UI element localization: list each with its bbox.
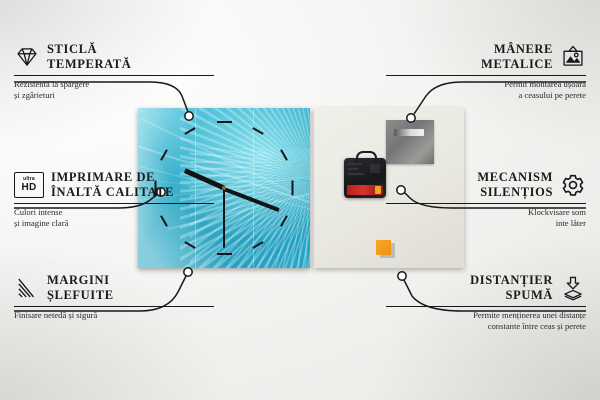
callout-subtitle-line-1: Permite menținerea unei distanțe bbox=[386, 310, 586, 321]
callout-header: ultra HD IMPRIMARE DE ÎNALTĂ CALITATE bbox=[14, 170, 214, 200]
diamond-icon bbox=[14, 44, 40, 70]
mechanism-hanging-loop bbox=[356, 151, 377, 163]
callout-rule bbox=[386, 75, 586, 77]
callout-title-line-1: STICLĂ bbox=[47, 42, 131, 57]
clock-tick bbox=[217, 253, 232, 255]
mechanism-detail bbox=[370, 164, 380, 173]
callout-subtitle-line-2: constante între ceas și perete bbox=[386, 321, 586, 332]
callout-title-line-2: SPUMĂ bbox=[470, 288, 553, 303]
mechanism-detail bbox=[348, 168, 358, 170]
callout-header: DISTANȚIER SPUMĂ bbox=[386, 273, 586, 303]
callout-title-line-1: MARGINI bbox=[47, 273, 114, 288]
clock-tick bbox=[292, 181, 294, 196]
callout-header: MÂNERE METALICE bbox=[386, 42, 586, 72]
callout-subtitle-line-1: Permit montarea ușoară bbox=[386, 79, 586, 90]
callout-subtitle-line-1: Finisare netedă și sigură bbox=[14, 310, 214, 321]
callout-header: MECANISM SILENȚIOS bbox=[386, 170, 586, 200]
callout-rule bbox=[14, 75, 214, 77]
callout-title-line-1: MECANISM bbox=[477, 170, 553, 185]
callout-subtitle-line-1: Culori intense bbox=[14, 207, 214, 218]
callout-title: MECANISM SILENȚIOS bbox=[477, 170, 553, 200]
callout-subtitle-line-2: și imagine clară bbox=[14, 218, 214, 229]
callout-title-line-2: TEMPERATĂ bbox=[47, 57, 131, 72]
foam-spacer bbox=[376, 240, 391, 255]
ultra-hd-icon-main-text: HD bbox=[21, 183, 36, 193]
metal-hanger-plate bbox=[386, 120, 434, 164]
callout-subtitle: Culori intense și imagine clară bbox=[14, 207, 214, 230]
callout-title: MÂNERE METALICE bbox=[481, 42, 553, 72]
callout-header: STICLĂ TEMPERATĂ bbox=[14, 42, 214, 72]
battery-terminal bbox=[375, 186, 381, 194]
callout-subtitle: Rezistentă la spargere și zgârieturi bbox=[14, 79, 214, 102]
callout-title: STICLĂ TEMPERATĂ bbox=[47, 42, 131, 72]
callout-header: MARGINI ȘLEFUITE bbox=[14, 273, 214, 303]
callout-title-line-2: METALICE bbox=[481, 57, 553, 72]
callout-title-line-1: IMPRIMARE DE bbox=[51, 170, 174, 185]
gear-icon bbox=[560, 172, 586, 198]
ultra-hd-icon-small-text: ultra bbox=[23, 177, 35, 182]
callout-sticla-temperata: STICLĂ TEMPERATĂ Rezistentă la spargere … bbox=[14, 42, 214, 102]
callout-manere-metalice: MÂNERE METALICE Permit montarea ușoară a… bbox=[386, 42, 586, 102]
callout-subtitle-line-2: inte låter bbox=[386, 218, 586, 229]
callout-margini-slefuite: MARGINI ȘLEFUITE Finisare netedă și sigu… bbox=[14, 273, 214, 321]
callout-title: IMPRIMARE DE ÎNALTĂ CALITATE bbox=[51, 170, 174, 200]
quartz-clock-mechanism bbox=[344, 158, 386, 198]
callout-title: DISTANȚIER SPUMĂ bbox=[470, 273, 553, 303]
clock-pivot bbox=[222, 186, 226, 190]
callout-subtitle: Klockvisare som inte låter bbox=[386, 207, 586, 230]
clock-tick bbox=[217, 121, 232, 123]
callout-subtitle-line-2: și zgârieturi bbox=[14, 90, 214, 101]
callout-title-line-2: ȘLEFUITE bbox=[47, 288, 114, 303]
picture-frame-hanger-icon bbox=[560, 44, 586, 70]
hanger-slot bbox=[394, 129, 424, 136]
callout-mecanism-silentios: MECANISM SILENȚIOS Klockvisare som inte … bbox=[386, 170, 586, 230]
aa-battery bbox=[347, 185, 383, 195]
callout-subtitle-line-1: Rezistentă la spargere bbox=[14, 79, 214, 90]
infographic-canvas: STICLĂ TEMPERATĂ Rezistentă la spargere … bbox=[0, 0, 600, 400]
callout-subtitle: Permit montarea ușoară a ceasului pe per… bbox=[386, 79, 586, 102]
clock-second-hand bbox=[223, 188, 225, 248]
callout-subtitle: Finisare netedă și sigură bbox=[14, 310, 214, 321]
callout-rule bbox=[14, 203, 214, 205]
ultra-hd-icon: ultra HD bbox=[14, 172, 44, 198]
callout-rule bbox=[386, 203, 586, 205]
glass-seam bbox=[253, 108, 254, 268]
callout-title-line-1: MÂNERE bbox=[481, 42, 553, 57]
callout-subtitle-line-1: Klockvisare som bbox=[386, 207, 586, 218]
mechanism-detail bbox=[348, 173, 364, 175]
callout-rule bbox=[386, 306, 586, 308]
callout-title-line-2: ÎNALTĂ CALITATE bbox=[51, 185, 174, 200]
callout-title: MARGINI ȘLEFUITE bbox=[47, 273, 114, 303]
callout-subtitle: Permite menținerea unei distanțe constan… bbox=[386, 310, 586, 333]
polished-edges-icon bbox=[14, 275, 40, 301]
callout-rule bbox=[14, 306, 214, 308]
callout-title-line-2: SILENȚIOS bbox=[477, 185, 553, 200]
mechanism-detail bbox=[348, 163, 362, 165]
callout-distantier-spuma: DISTANȚIER SPUMĂ Permite menținerea unei… bbox=[386, 273, 586, 333]
callout-imprimare-hd: ultra HD IMPRIMARE DE ÎNALTĂ CALITATE Cu… bbox=[14, 170, 214, 230]
foam-spacer-arrow-icon bbox=[560, 275, 586, 301]
callout-subtitle-line-2: a ceasului pe perete bbox=[386, 90, 586, 101]
callout-title-line-1: DISTANȚIER bbox=[470, 273, 553, 288]
